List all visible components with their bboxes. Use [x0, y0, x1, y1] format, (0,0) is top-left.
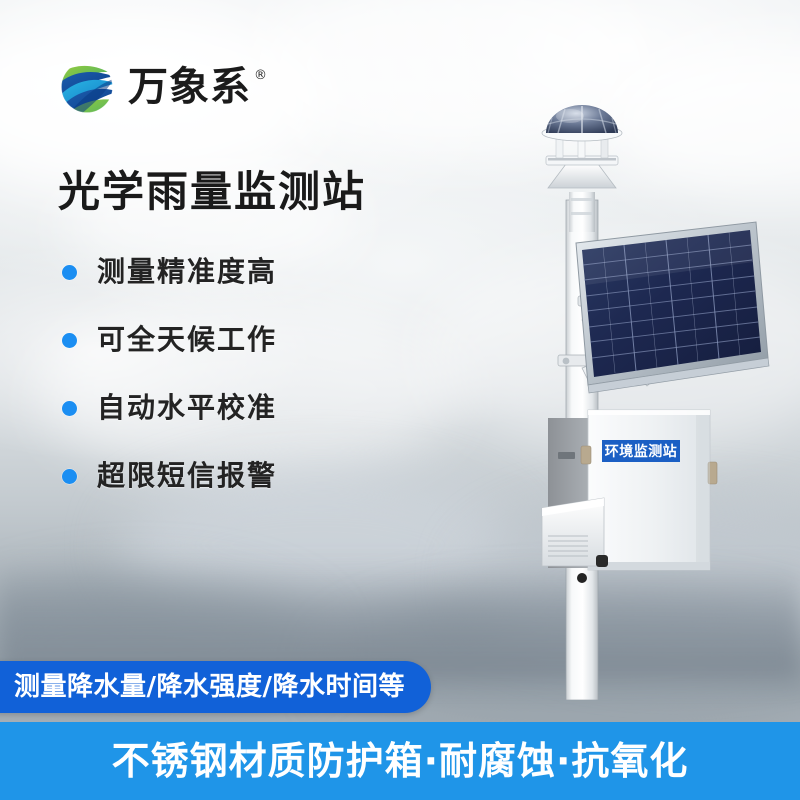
feature-label: 超限短信报警	[97, 462, 277, 490]
solar-panel	[576, 222, 769, 393]
page-title: 光学雨量监测站	[58, 168, 366, 216]
feature-label: 可全天候工作	[97, 326, 277, 354]
brand-name: 万象系	[128, 67, 251, 107]
list-item: 自动水平校准	[62, 394, 277, 422]
vented-module	[542, 498, 608, 567]
globe-sphere-logo-icon	[58, 58, 116, 116]
sensor-mast	[569, 192, 595, 232]
product-poster: 环境监测站	[0, 0, 800, 800]
bullet-dot-icon	[62, 265, 77, 280]
bottom-banner-text: 不锈钢材质防护箱·耐腐蚀·抗氧化	[112, 742, 689, 780]
bullet-dot-icon	[62, 401, 77, 416]
brand-logo: 万象系 ®	[58, 58, 267, 116]
feature-list: 测量精准度高 可全天候工作 自动水平校准 超限短信报警	[62, 258, 277, 490]
pill-banner-text: 测量降水量/降水强度/降水时间等	[14, 674, 405, 700]
bullet-dot-icon	[62, 469, 77, 484]
list-item: 测量精准度高	[62, 258, 277, 286]
pole-fitting	[577, 573, 587, 583]
bullet-dot-icon	[62, 333, 77, 348]
weather-station-product-image: 环境监测站	[470, 100, 800, 700]
feature-label: 测量精准度高	[97, 258, 277, 286]
list-item: 超限短信报警	[62, 462, 277, 490]
registered-trademark-icon: ®	[254, 69, 267, 82]
feature-label: 自动水平校准	[97, 394, 277, 422]
measurement-capability-banner: 测量降水量/降水强度/降水时间等	[0, 661, 431, 713]
list-item: 可全天候工作	[62, 326, 277, 354]
cabinet-label: 环境监测站	[602, 440, 680, 462]
svg-text:环境监测站: 环境监测站	[605, 443, 678, 460]
material-claim-banner: 不锈钢材质防护箱·耐腐蚀·抗氧化	[0, 722, 800, 800]
optical-rain-sensor	[542, 105, 622, 188]
